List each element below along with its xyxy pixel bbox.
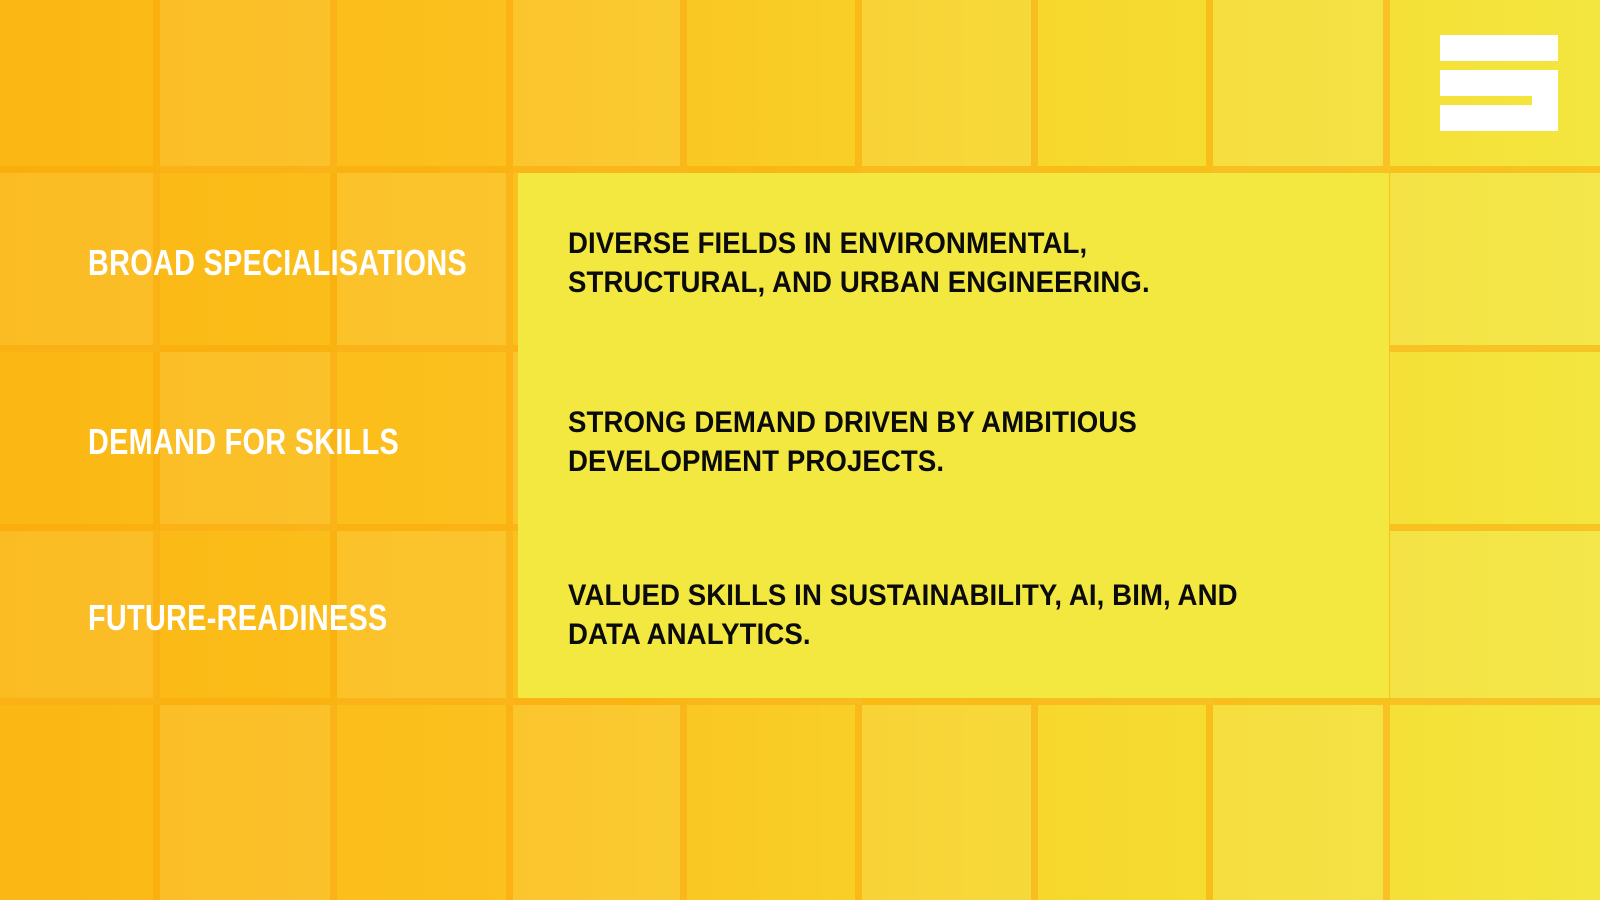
row-panel: VALUED SKILLS IN SUSTAINABILITY, AI, BIM… — [518, 531, 1389, 698]
row-label-zone: BROAD SPECIALISATIONS — [0, 173, 518, 352]
row-label-zone: DEMAND FOR SKILLS — [0, 352, 518, 531]
grid-cell — [160, 705, 337, 900]
row-panel: DIVERSE FIELDS IN ENVIRONMENTAL, STRUCTU… — [518, 173, 1389, 352]
row-body-text: VALUED SKILLS IN SUSTAINABILITY, AI, BIM… — [568, 576, 1283, 654]
grid-cell — [337, 0, 513, 173]
row-panel: STRONG DEMAND DRIVEN BY AMBITIOUS DEVELO… — [518, 352, 1389, 531]
grid-cell — [337, 705, 513, 900]
grid-cell — [862, 705, 1038, 900]
logo[interactable] — [1397, 0, 1600, 166]
grid-cell — [0, 0, 160, 173]
infographic-slide: BROAD SPECIALISATIONS DIVERSE FIELDS IN … — [0, 0, 1600, 900]
stylized-e-logo-icon — [1440, 35, 1558, 131]
grid-cell — [687, 705, 862, 900]
content-row: DEMAND FOR SKILLS STRONG DEMAND DRIVEN B… — [0, 352, 1600, 531]
content-row: FUTURE-READINESS VALUED SKILLS IN SUSTAI… — [0, 531, 1600, 705]
row-label: BROAD SPECIALISATIONS — [88, 244, 467, 282]
grid-cell — [513, 0, 687, 173]
grid-cell — [862, 0, 1038, 173]
grid-cell — [1213, 0, 1390, 173]
content-row: BROAD SPECIALISATIONS DIVERSE FIELDS IN … — [0, 173, 1600, 352]
row-label-zone: FUTURE-READINESS — [0, 531, 518, 705]
row-body-text: DIVERSE FIELDS IN ENVIRONMENTAL, STRUCTU… — [568, 224, 1283, 302]
grid-cell — [1213, 705, 1390, 900]
grid-cell — [0, 705, 160, 900]
grid-cell — [1390, 705, 1600, 900]
grid-cell — [1038, 0, 1213, 173]
grid-cell — [687, 0, 862, 173]
grid-cell — [160, 0, 337, 173]
row-body-text: STRONG DEMAND DRIVEN BY AMBITIOUS DEVELO… — [568, 403, 1283, 481]
row-label: FUTURE-READINESS — [88, 599, 388, 637]
grid-cell — [1038, 705, 1213, 900]
row-label: DEMAND FOR SKILLS — [88, 423, 399, 461]
grid-cell — [513, 705, 687, 900]
